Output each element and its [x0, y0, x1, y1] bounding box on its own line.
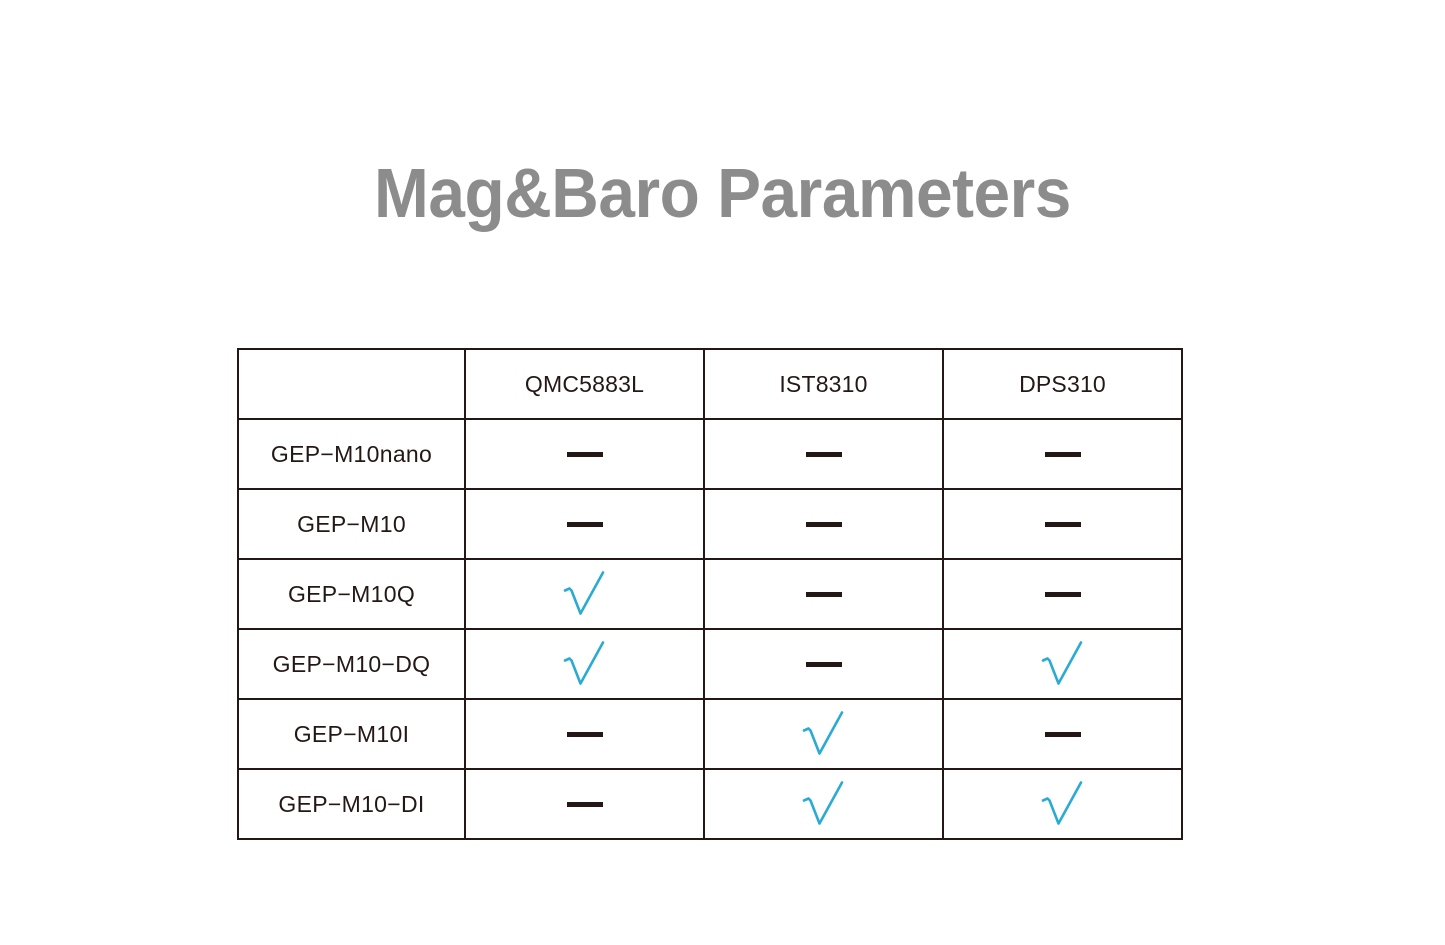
cell-qmc5883l [465, 699, 704, 769]
dash-mark-icon [567, 732, 603, 737]
cell-ist8310 [704, 559, 943, 629]
cell-ist8310 [704, 489, 943, 559]
check-mark-icon [562, 569, 608, 619]
cell-qmc5883l [465, 419, 704, 489]
dash-mark-icon [1045, 732, 1081, 737]
table-row: GEP−M10 [238, 489, 1182, 559]
cell-content [705, 490, 942, 558]
dash-mark-icon [806, 662, 842, 667]
table-row: GEP−M10Q [238, 559, 1182, 629]
row-label: GEP−M10 [238, 489, 465, 559]
cell-qmc5883l [465, 769, 704, 839]
dash-mark-icon [806, 592, 842, 597]
mag-baro-parameters-table: QMC5883L IST8310 DPS310 GEP−M10nanoGEP−M… [237, 348, 1183, 840]
row-label: GEP−M10I [238, 699, 465, 769]
cell-content [466, 700, 703, 768]
cell-content [466, 630, 703, 698]
check-mark-icon [801, 779, 847, 829]
cell-dps310 [943, 629, 1182, 699]
cell-ist8310 [704, 629, 943, 699]
cell-content [944, 420, 1181, 488]
dash-mark-icon [1045, 522, 1081, 527]
cell-content [705, 420, 942, 488]
cell-dps310 [943, 559, 1182, 629]
cell-ist8310 [704, 769, 943, 839]
cell-content [944, 560, 1181, 628]
cell-qmc5883l [465, 559, 704, 629]
row-label: GEP−M10−DQ [238, 629, 465, 699]
row-label: GEP−M10Q [238, 559, 465, 629]
dash-mark-icon [567, 802, 603, 807]
table-body: GEP−M10nanoGEP−M10GEP−M10QGEP−M10−DQGEP−… [238, 419, 1182, 839]
cell-content [466, 770, 703, 838]
check-mark-icon [801, 709, 847, 759]
cell-ist8310 [704, 699, 943, 769]
cell-content [944, 490, 1181, 558]
cell-content [466, 560, 703, 628]
cell-content [705, 770, 942, 838]
dash-mark-icon [806, 452, 842, 457]
cell-dps310 [943, 699, 1182, 769]
column-header-ist8310: IST8310 [704, 349, 943, 419]
cell-dps310 [943, 489, 1182, 559]
table-corner-cell [238, 349, 465, 419]
dash-mark-icon [567, 522, 603, 527]
cell-content [705, 560, 942, 628]
cell-content [705, 630, 942, 698]
column-header-dps310: DPS310 [943, 349, 1182, 419]
cell-ist8310 [704, 419, 943, 489]
cell-qmc5883l [465, 489, 704, 559]
dash-mark-icon [806, 522, 842, 527]
row-label: GEP−M10nano [238, 419, 465, 489]
row-label: GEP−M10−DI [238, 769, 465, 839]
cell-content [944, 630, 1181, 698]
table-row: GEP−M10I [238, 699, 1182, 769]
cell-qmc5883l [465, 629, 704, 699]
cell-content [705, 700, 942, 768]
cell-content [944, 700, 1181, 768]
table-header-row: QMC5883L IST8310 DPS310 [238, 349, 1182, 419]
dash-mark-icon [1045, 452, 1081, 457]
dash-mark-icon [567, 452, 603, 457]
check-mark-icon [1040, 639, 1086, 689]
cell-content [466, 490, 703, 558]
cell-content [944, 770, 1181, 838]
cell-content [466, 420, 703, 488]
page-title: Mag&Baro Parameters [43, 158, 1401, 228]
cell-dps310 [943, 419, 1182, 489]
table-row: GEP−M10−DQ [238, 629, 1182, 699]
cell-dps310 [943, 769, 1182, 839]
check-mark-icon [562, 639, 608, 689]
table-row: GEP−M10−DI [238, 769, 1182, 839]
column-header-qmc5883l: QMC5883L [465, 349, 704, 419]
check-mark-icon [1040, 779, 1086, 829]
table-row: GEP−M10nano [238, 419, 1182, 489]
dash-mark-icon [1045, 592, 1081, 597]
